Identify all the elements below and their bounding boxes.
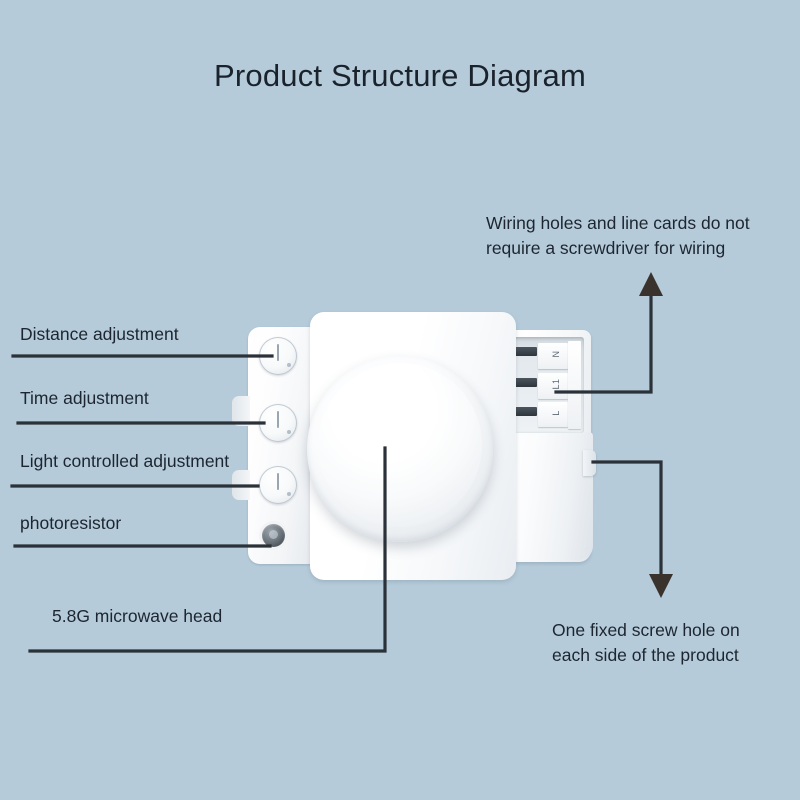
callout-photoresistor: photoresistor — [20, 511, 121, 536]
callout-fixed-screw-hole-line2: each side of the product — [552, 643, 739, 668]
callout-distance-adjustment: Distance adjustment — [20, 322, 179, 347]
arrowhead-down-fixed-screw-hole — [649, 574, 673, 598]
callout-light-controlled-adjustment: Light controlled adjustment — [20, 449, 229, 474]
callout-fixed-screw-hole-line1: One fixed screw hole on — [552, 618, 740, 643]
arrowhead-up-wiring-holes — [639, 272, 663, 296]
callout-wiring-holes-line2: require a screwdriver for wiring — [486, 236, 725, 261]
leader-line-wiring-holes — [556, 288, 651, 392]
diagram-canvas: Product Structure Diagram N L1 L — [0, 0, 800, 800]
callout-microwave-head: 5.8G microwave head — [52, 604, 222, 629]
callout-wiring-holes-line1: Wiring holes and line cards do not — [486, 211, 750, 236]
callout-time-adjustment: Time adjustment — [20, 386, 149, 411]
leader-line-fixed-screw-hole — [593, 462, 661, 582]
